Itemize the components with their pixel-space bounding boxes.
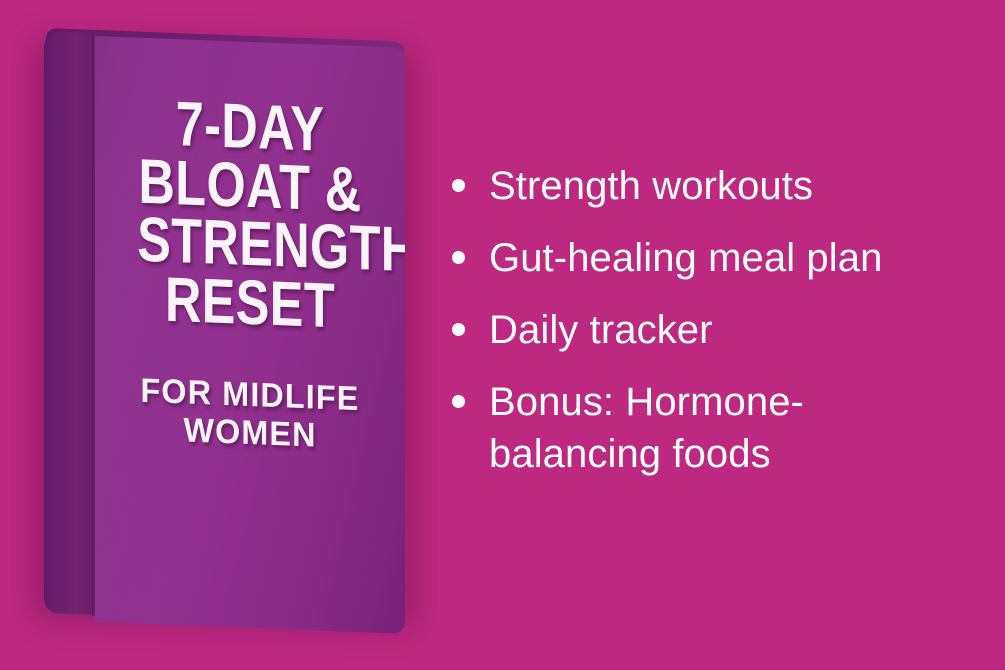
- list-item: Gut-healing meal plan: [452, 232, 982, 284]
- bullet-dot-icon: [452, 395, 465, 408]
- bullet-dot-icon: [452, 179, 465, 192]
- book-title: 7-DAY BLOAT & STRENGTH RESET: [137, 94, 363, 337]
- list-item: Daily tracker: [452, 304, 982, 356]
- list-item: Strength workouts: [452, 160, 982, 212]
- feature-list: Strength workouts Gut-healing meal plan …: [452, 160, 982, 500]
- bullet-dot-icon: [452, 323, 465, 336]
- ebook-cover-mockup: 7-DAY BLOAT & STRENGTH RESET FOR MIDLIFE…: [0, 0, 460, 670]
- feature-label: Bonus: Hormone-balancing foods: [489, 376, 909, 480]
- cover-text-block: 7-DAY BLOAT & STRENGTH RESET FOR MIDLIFE…: [95, 92, 405, 458]
- bullet-dot-icon: [452, 251, 465, 264]
- book-title-line-4: RESET: [137, 269, 363, 336]
- feature-label: Gut-healing meal plan: [489, 232, 882, 284]
- book-subtitle: FOR MIDLIFE WOMEN: [116, 371, 384, 457]
- feature-label: Daily tracker: [489, 304, 713, 356]
- list-item: Bonus: Hormone-balancing foods: [452, 376, 982, 480]
- promo-graphic: 7-DAY BLOAT & STRENGTH RESET FOR MIDLIFE…: [0, 0, 1005, 670]
- book-spine: [44, 31, 98, 615]
- feature-label: Strength workouts: [489, 160, 813, 212]
- book-front-cover: 7-DAY BLOAT & STRENGTH RESET FOR MIDLIFE…: [95, 36, 405, 634]
